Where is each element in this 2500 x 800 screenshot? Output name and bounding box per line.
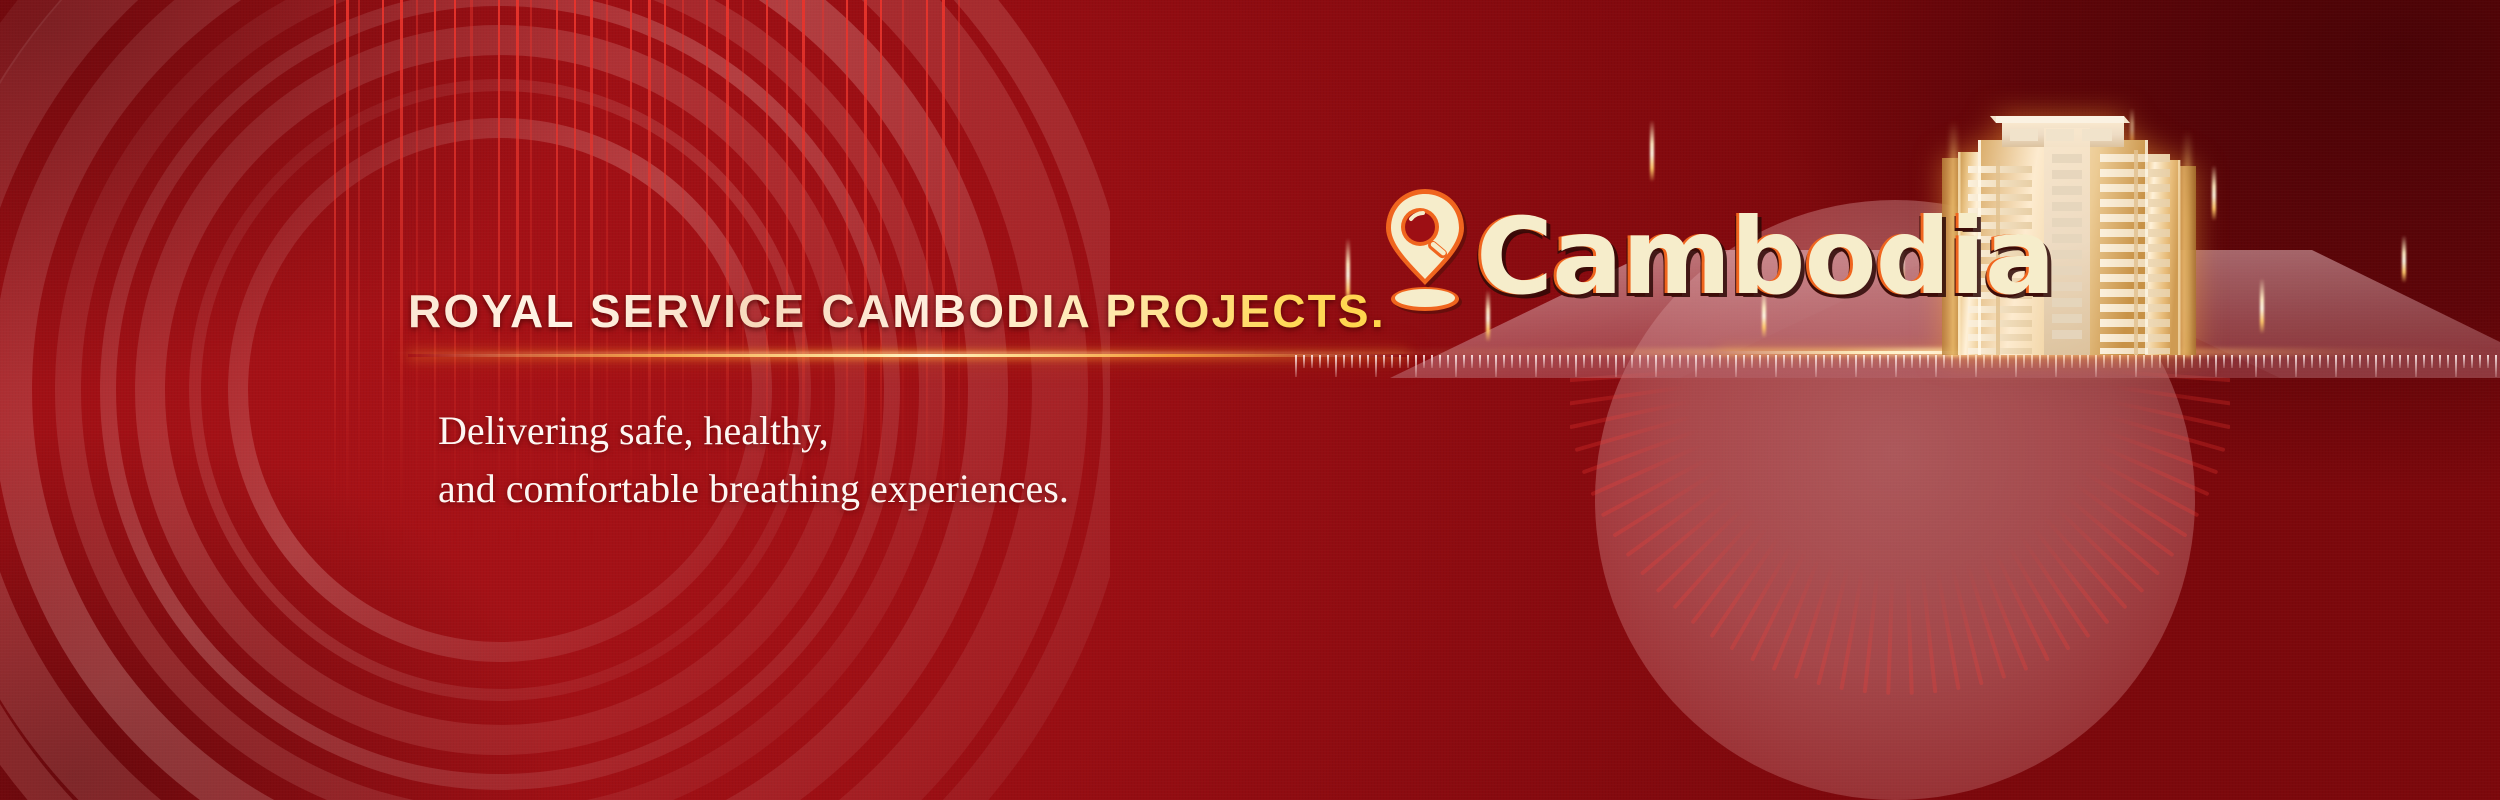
cambodia-logo[interactable]: Cambodia [1378,185,1998,325]
light-streak [2260,278,2264,334]
light-streak [2212,165,2216,221]
light-streak [2402,235,2406,283]
light-streak [1346,238,1350,306]
ruler-strip-icon [1295,355,2500,379]
cambodia-wordmark: Cambodia [1476,205,2055,310]
map-pin-magnifier-icon [1378,185,1478,320]
promo-banner: ROYAL SERVICE CAMBODIA PROJECTS. Deliver… [0,0,2500,800]
light-streak [1650,120,1654,182]
right-illustration-scene: Cambodia [1250,0,2500,800]
